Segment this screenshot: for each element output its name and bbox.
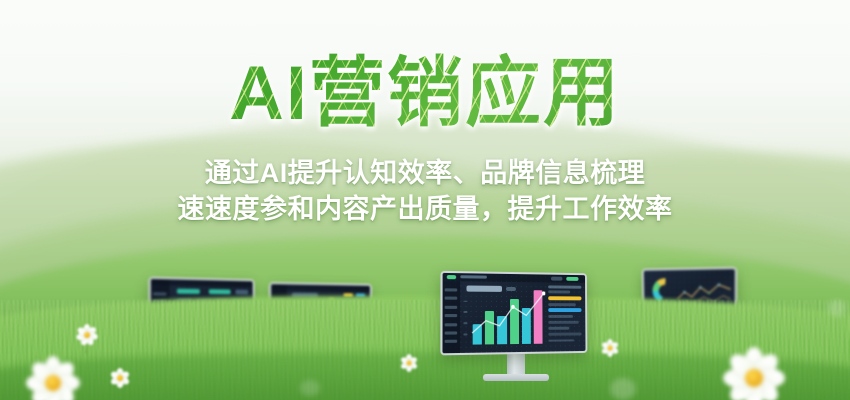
- panel-highlight: [548, 296, 581, 300]
- monitor-center-base: [483, 374, 549, 381]
- panel-row: [548, 291, 570, 294]
- daisy-flower: [718, 342, 790, 400]
- subtitle-line-1: 通过AI提升认知效率、品牌信息梳理: [0, 155, 850, 191]
- flower-center: [84, 332, 90, 338]
- chart-trend-line: [471, 288, 546, 340]
- panel-row: [548, 285, 581, 288]
- bokeh-highlight: [828, 300, 846, 316]
- monitor-center-screen: [440, 271, 587, 356]
- panel-row: [548, 315, 573, 318]
- panel-row: [548, 333, 581, 336]
- daisy-flower: [108, 366, 132, 390]
- monitor-center: [442, 272, 590, 381]
- daisy-flower: [398, 352, 420, 374]
- flower-center: [45, 375, 61, 391]
- page-subtitle: 通过AI提升认知效率、品牌信息梳理 速速度参和内容产出质量，提升工作效率: [0, 155, 850, 227]
- flower-center: [407, 361, 412, 366]
- flower-center: [745, 369, 763, 387]
- flower-center: [117, 375, 123, 381]
- subtitle-line-2: 速速度参和内容产出质量，提升工作效率: [0, 191, 850, 227]
- daisy-flower: [22, 352, 84, 400]
- ai-marketing-banner: AI营销应用 通过AI提升认知效率、品牌信息梳理 速速度参和内容产出质量，提升工…: [0, 0, 850, 400]
- screen-button: [566, 277, 578, 281]
- daisy-flower: [74, 322, 100, 348]
- screen-accent-pill-1: [177, 289, 200, 294]
- bokeh-highlight: [610, 378, 636, 400]
- panel-row: [548, 303, 575, 306]
- screen-accent-pill-3: [236, 290, 248, 295]
- panel-highlight: [548, 308, 581, 312]
- screen-logo: [447, 275, 456, 280]
- bokeh-highlight: [300, 380, 320, 396]
- daisy-flower: [600, 338, 620, 358]
- screen-accent-pill-2: [209, 289, 231, 294]
- panel-row: [548, 321, 578, 324]
- screen-sidebar: [442, 281, 460, 353]
- flower-center: [608, 346, 613, 351]
- page-title: AI营销应用: [0, 52, 850, 136]
- panel-row: [548, 327, 569, 330]
- screen-button: [551, 277, 562, 281]
- monitor-center-neck: [507, 354, 525, 374]
